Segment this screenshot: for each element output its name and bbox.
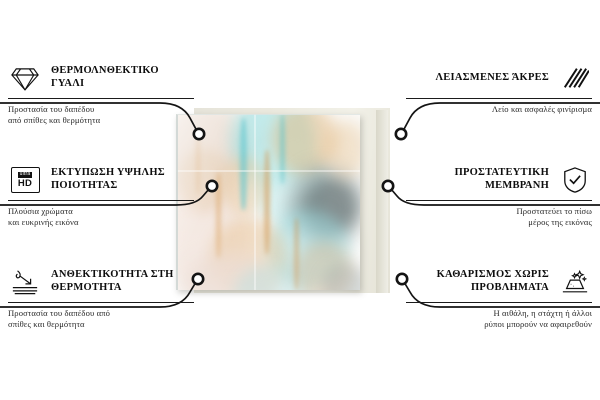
feature-description: Η αιθάλη, η στάχτη ή άλλοι ρύποι μπορούν… (406, 308, 592, 330)
divider (8, 98, 194, 99)
callout-marker-2 (207, 181, 217, 191)
divider (8, 200, 194, 201)
desc-line: Προστατεύει το πίσω (406, 206, 592, 217)
feature-title: ΑΝΘΕΚΤΙΚΟΤΗΤΑ ΣΤΗ ΘΕΡΜΟΤΗΤΑ (51, 269, 194, 294)
ultra-hd-badge-icon: ultra HD (8, 164, 42, 196)
feature-title: ΘΕΡΜΟΛΝΘΕΚΤΙΚΟ ΓΥΑΛΙ (51, 65, 194, 90)
divider (8, 302, 194, 303)
feature-protective-membrane[interactable]: ΠΡΟΣΤΑΤΕΥΤΙΚΗ ΜΕΜΒΡΑΝΗ Προστατεύει το πί… (406, 164, 592, 228)
feature-header: ΘΕΡΜΟΛΝΘΕΚΤΙΚΟ ΓΥΑΛΙ (8, 62, 194, 94)
feature-title: ΚΑΘΑΡΙΣΜΟΣ ΧΩΡΙΣ ΠΡΟΒΛΗΜΑΤΑ (406, 269, 549, 294)
shield-check-icon (558, 164, 592, 196)
feature-heat-durability[interactable]: ΑΝΘΕΚΤΙΚΟΤΗΤΑ ΣΤΗ ΘΕΡΜΟΤΗΤΑ Προστασία το… (8, 266, 194, 330)
desc-line: μέρος της εικόνας (406, 217, 592, 228)
desc-line: Πλούσια χρώματα (8, 206, 194, 217)
desc-line: σπίθες και θερμότητα (8, 319, 194, 330)
feature-header: ultra HD ΕΚΤΥΠΩΣΗ ΥΨΗΛΗΣ ΠΟΙΟΤΗΤΑΣ (8, 164, 194, 196)
feature-header: ΚΑΘΑΡΙΣΜΟΣ ΧΩΡΙΣ ΠΡΟΒΛΗΜΑΤΑ (406, 266, 592, 298)
feature-description: Λείο και ασφαλές φινίρισμα (406, 104, 592, 115)
feature-title: ΕΚΤΥΠΩΣΗ ΥΨΗΛΗΣ ΠΟΙΟΤΗΤΑΣ (51, 167, 194, 192)
hd-badge-upper: ultra (18, 172, 33, 178)
feature-high-quality-print[interactable]: ultra HD ΕΚΤΥΠΩΣΗ ΥΨΗΛΗΣ ΠΟΙΟΤΗΤΑΣ Πλούσ… (8, 164, 194, 228)
desc-line: ρύποι μπορούν να αφαιρεθούν (406, 319, 592, 330)
callout-marker-3 (193, 274, 203, 284)
diamond-icon (8, 62, 42, 94)
feature-easy-cleaning[interactable]: ΚΑΘΑΡΙΣΜΟΣ ΧΩΡΙΣ ΠΡΟΒΛΗΜΑΤΑ Η αιθάλη, η … (406, 266, 592, 330)
polished-edges-icon (558, 62, 592, 94)
infographic-canvas: ΘΕΡΜΟΛΝΘΕΚΤΙΚΟ ΓΥΑΛΙ Προστασία του δαπέδ… (0, 0, 600, 400)
sponge-sparkle-icon (558, 266, 592, 298)
feature-description: Προστασία του δαπέδου από σπίθες και θερ… (8, 104, 194, 126)
feature-description: Προστασία του δαπέδου από σπίθες και θερ… (8, 308, 194, 330)
feature-heat-resistant-glass[interactable]: ΘΕΡΜΟΛΝΘΕΚΤΙΚΟ ΓΥΑΛΙ Προστασία του δαπέδ… (8, 62, 194, 126)
callout-marker-1 (194, 129, 204, 139)
desc-line: από σπίθες και θερμότητα (8, 115, 194, 126)
divider (406, 98, 592, 99)
divider (406, 200, 592, 201)
feature-header: ΠΡΟΣΤΑΤΕΥΤΙΚΗ ΜΕΜΒΡΑΝΗ (406, 164, 592, 196)
feature-title: ΠΡΟΣΤΑΤΕΥΤΙΚΗ ΜΕΜΒΡΑΝΗ (406, 167, 549, 192)
callout-marker-5 (383, 181, 393, 191)
desc-line: Προστασία του δαπέδου (8, 104, 194, 115)
hd-badge-lower: HD (18, 179, 32, 189)
feature-polished-edges[interactable]: ΛΕΙΑΣΜΕΝΕΣ ΆΚΡΕΣ Λείο και ασφαλές φινίρι… (406, 62, 592, 115)
callout-marker-4 (396, 129, 406, 139)
flame-heat-resistance-icon (8, 266, 42, 298)
divider (406, 302, 592, 303)
desc-line: Λείο και ασφαλές φινίρισμα (406, 104, 592, 115)
feature-header: ΛΕΙΑΣΜΕΝΕΣ ΆΚΡΕΣ (406, 62, 592, 94)
feature-description: Προστατεύει το πίσω μέρος της εικόνας (406, 206, 592, 228)
desc-line: Η αιθάλη, η στάχτη ή άλλοι (406, 308, 592, 319)
feature-title: ΛΕΙΑΣΜΕΝΕΣ ΆΚΡΕΣ (435, 72, 549, 85)
desc-line: και ευκρινής εικόνα (8, 217, 194, 228)
feature-description: Πλούσια χρώματα και ευκρινής εικόνα (8, 206, 194, 228)
feature-header: ΑΝΘΕΚΤΙΚΟΤΗΤΑ ΣΤΗ ΘΕΡΜΟΤΗΤΑ (8, 266, 194, 298)
desc-line: Προστασία του δαπέδου από (8, 308, 194, 319)
